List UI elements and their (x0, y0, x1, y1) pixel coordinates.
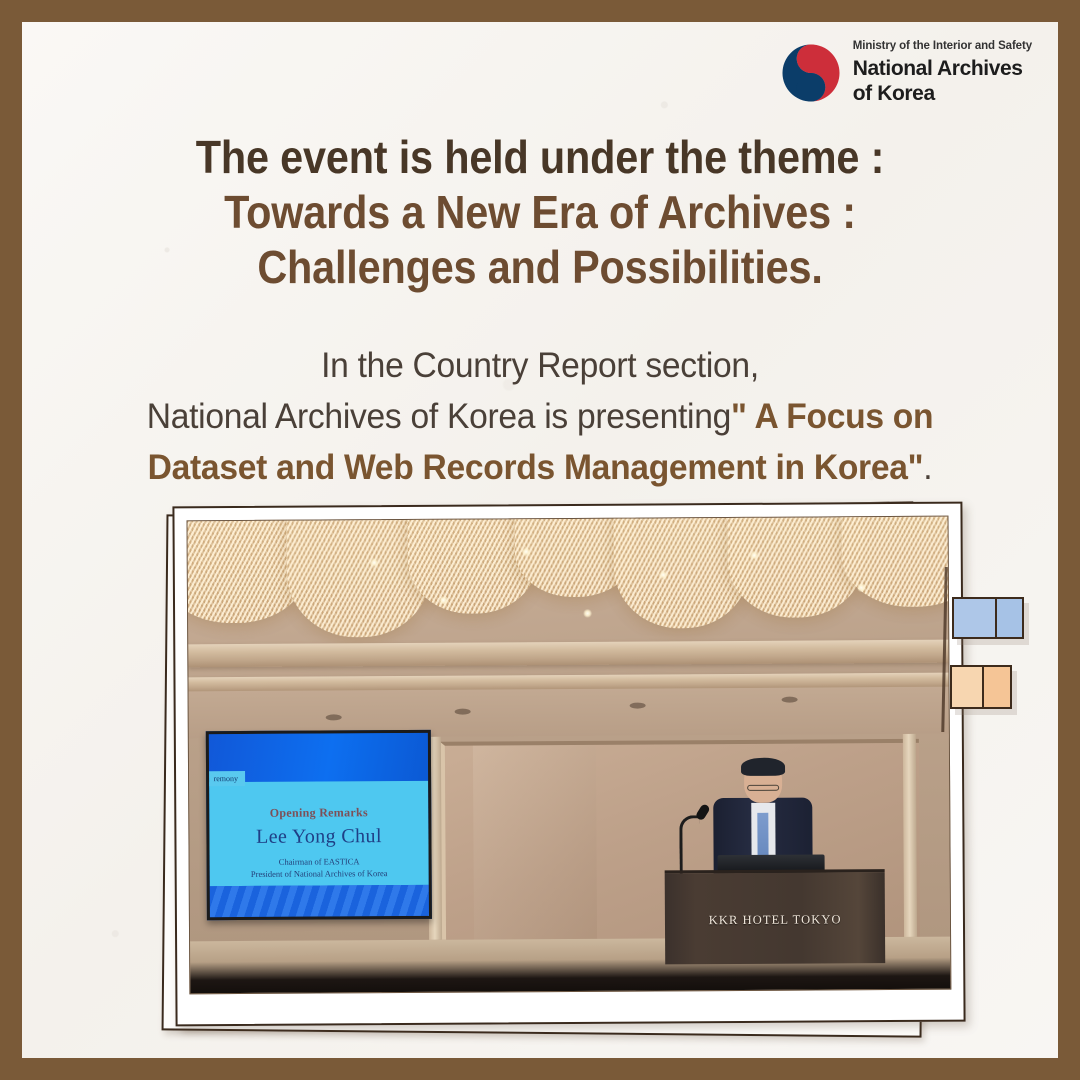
chandelier-sparkle (583, 609, 592, 618)
wood-post-right (903, 734, 916, 937)
photo-frame-stack: Opening Remarks Lee Yong Chul Chairman o… (152, 492, 952, 1037)
slide-heading: Opening Remarks (210, 804, 428, 820)
headline-line-3: Challenges and Possibilities. (74, 240, 1006, 295)
sticky-note-peach (950, 665, 1012, 709)
podium: KKR HOTEL TOKYO (665, 869, 886, 965)
body-line-3-tail: . (923, 448, 932, 487)
sticky-note-blue (952, 597, 1024, 639)
body-line-2: National Archives of Korea is presenting… (43, 391, 1038, 442)
logo-text-block: Ministry of the Interior and Safety Nati… (853, 40, 1032, 107)
slide-bottom-band (210, 885, 428, 917)
slide-speaker-titles: Chairman of EASTICA President of Nationa… (210, 854, 428, 880)
logo-organization-name: National Archives of Korea (853, 57, 1032, 107)
logo-name-line1: National Archives (853, 57, 1023, 80)
sticky-blue-pane-1 (954, 599, 995, 637)
downlight-icon (455, 708, 471, 714)
national-archives-logo: Ministry of the Interior and Safety Nati… (780, 40, 1032, 107)
paper-background: Ministry of the Interior and Safety Nati… (22, 22, 1058, 1058)
body-line-3: Dataset and Web Records Management in Ko… (43, 442, 1038, 493)
speaker-glasses-icon (747, 784, 779, 790)
chandelier-sparkle (439, 595, 448, 604)
slide-body: Opening Remarks Lee Yong Chul Chairman o… (210, 780, 429, 886)
ceiling-cornice (188, 639, 948, 667)
body-line-2-bold: " A Focus on (731, 397, 933, 436)
sticky-peach-pane-1 (952, 667, 982, 707)
body-line-2-plain: National Archives of Korea is presenting (147, 397, 731, 436)
slide-speaker-name: Lee Yong Chul (210, 824, 428, 848)
logo-name-line2: of Korea (853, 82, 935, 105)
microphone-stand (680, 816, 700, 877)
speaker-hair (741, 757, 785, 776)
slide-title-2: President of National Archives of Korea (251, 868, 388, 879)
body-copy-block: In the Country Report section, National … (43, 340, 1038, 493)
sticky-blue-pane-2 (995, 599, 1022, 637)
taegeuk-icon (780, 42, 842, 104)
downlight-icon (325, 714, 341, 720)
body-line-1: In the Country Report section, (43, 340, 1038, 391)
photo-frame-main: Opening Remarks Lee Yong Chul Chairman o… (172, 502, 965, 1027)
opening-ceremony-photograph: Opening Remarks Lee Yong Chul Chairman o… (187, 516, 952, 995)
poster-card: Ministry of the Interior and Safety Nati… (0, 0, 1080, 1080)
slide-title-1: Chairman of EASTICA (279, 856, 360, 866)
headline-line-2: Towards a New Era of Archives : (74, 185, 1006, 240)
headline-block: The event is held under the theme : Towa… (74, 130, 1006, 296)
slide-ceremony-tab: remony (210, 771, 246, 786)
sticky-peach-pane-2 (982, 667, 1010, 707)
headline-line-1: The event is held under the theme : (74, 130, 1006, 185)
presentation-screen: Opening Remarks Lee Yong Chul Chairman o… (206, 730, 431, 920)
podium-hotel-label: KKR HOTEL TOKYO (665, 912, 885, 928)
body-line-3-bold: Dataset and Web Records Management in Ko… (148, 448, 924, 487)
logo-ministry-line: Ministry of the Interior and Safety (853, 40, 1032, 52)
chandelier-sparkle (857, 583, 866, 592)
